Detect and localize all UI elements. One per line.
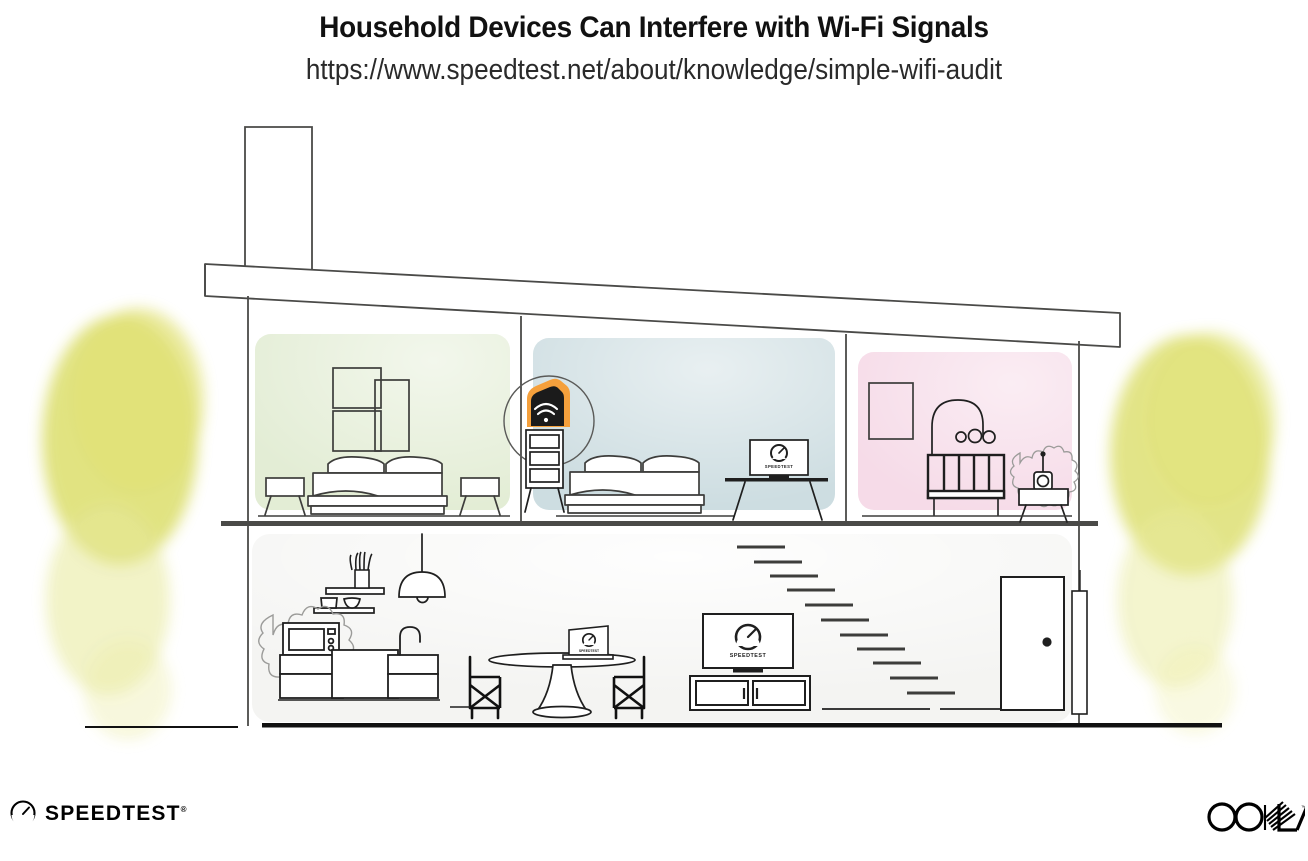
speedtest-logo: SPEEDTEST® [10, 800, 187, 826]
chimney [245, 127, 312, 279]
ookla-logo: ™ [1205, 797, 1305, 842]
window-sidelight [1072, 570, 1087, 714]
kitchen-shelf-upper [326, 588, 384, 594]
laptop-screen-label: SPEEDTEST [579, 649, 600, 653]
microwave [283, 623, 339, 655]
tree-left [42, 308, 204, 740]
front-door [1001, 577, 1064, 710]
speedtest-wordmark-text: SPEEDTEST [45, 802, 181, 825]
desk-monitor: SPEEDTEST [750, 440, 808, 478]
monitor-screen-label: SPEEDTEST [765, 464, 794, 469]
tv-screen-label: SPEEDTEST [730, 653, 767, 659]
bed-green-room [308, 457, 447, 514]
house-illustration: SPEEDTEST [0, 0, 1308, 861]
bed-blue-room [565, 456, 704, 513]
television: SPEEDTEST [703, 614, 793, 673]
speedtest-gauge-icon [10, 800, 36, 826]
media-console [690, 676, 810, 710]
speedtest-wordmark: SPEEDTEST® [45, 803, 187, 824]
house-cutaway-svg: SPEEDTEST [0, 0, 1308, 861]
laptop: SPEEDTEST [563, 626, 613, 659]
ookla-trademark: ™ [1301, 805, 1305, 811]
speedtest-trademark: ® [181, 805, 187, 814]
ookla-logo-mark: ™ [1205, 797, 1305, 837]
tree-right [1110, 332, 1276, 735]
kitchen-counter [280, 650, 438, 698]
